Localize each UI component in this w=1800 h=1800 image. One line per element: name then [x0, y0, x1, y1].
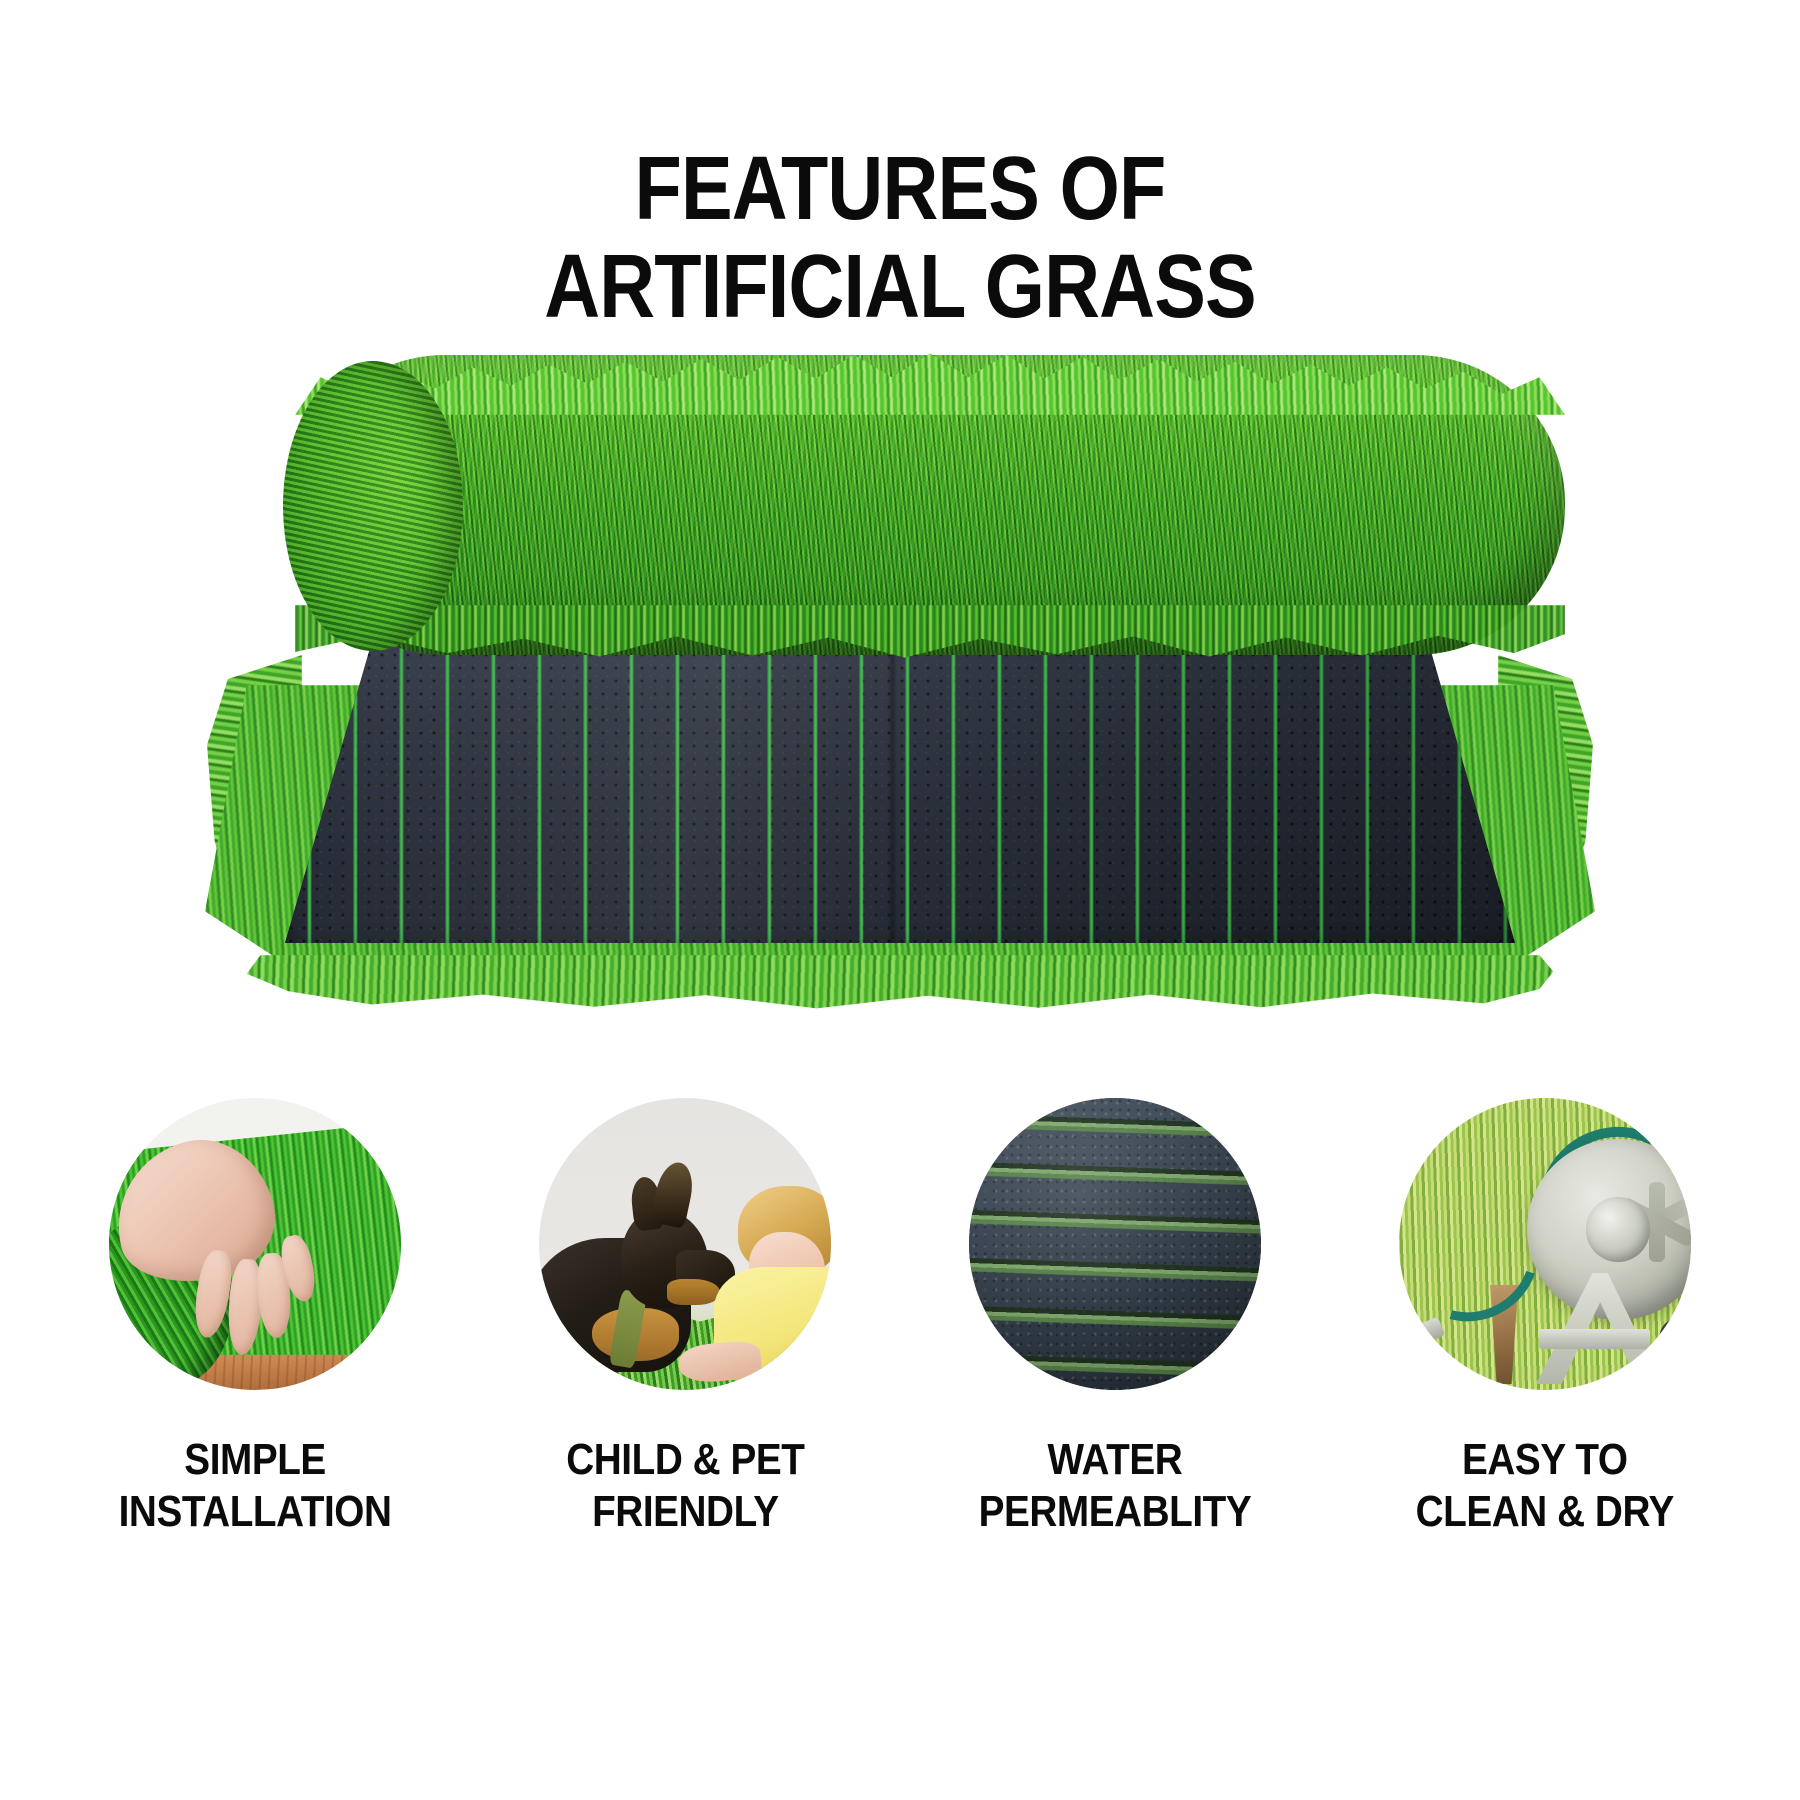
feature-caption-line-2: PERMEABLITY — [979, 1486, 1252, 1538]
feature-caption-line-2: FRIENDLY — [566, 1486, 804, 1538]
feature-item-easy-to-clean-and-dry[interactable]: EASY TO CLEAN & DRY — [1380, 1098, 1710, 1738]
backing-mat-seam — [888, 623, 897, 943]
dog-snout-marking-icon — [667, 1279, 720, 1305]
backing-mat-surface — [285, 623, 1515, 943]
title-line-1: FEATURES OF — [126, 140, 1674, 238]
feature-image-simple-installation — [109, 1098, 401, 1390]
feature-caption-line-1: CHILD & PET — [566, 1434, 804, 1486]
feature-list: SIMPLE INSTALLATION CHILD & PET FRIENDLY — [90, 1098, 1710, 1738]
feature-item-simple-installation[interactable]: SIMPLE INSTALLATION — [90, 1098, 420, 1738]
feature-caption-line-1: SIMPLE — [119, 1434, 392, 1486]
backing-weave-shading — [969, 1098, 1261, 1390]
feature-item-child-pet-friendly[interactable]: CHILD & PET FRIENDLY — [520, 1098, 850, 1738]
backing-mat-sheen — [285, 623, 1515, 943]
hose-reel-hub-icon — [1586, 1197, 1650, 1261]
reel-cart-crossbar-icon — [1539, 1329, 1650, 1349]
feature-caption-line-1: WATER — [979, 1434, 1252, 1486]
feature-caption-child-pet-friendly: CHILD & PET FRIENDLY — [566, 1434, 804, 1538]
feature-caption-line-2: INSTALLATION — [119, 1486, 392, 1538]
feature-image-child-pet-friendly — [539, 1098, 831, 1390]
feature-item-water-permeablity[interactable]: WATER PERMEABLITY — [950, 1098, 1280, 1738]
page-title: FEATURES OF ARTIFICIAL GRASS — [0, 140, 1800, 336]
feature-caption-simple-installation: SIMPLE INSTALLATION — [119, 1434, 392, 1538]
feature-image-easy-to-clean-and-dry — [1399, 1098, 1691, 1390]
feature-caption-easy-to-clean-and-dry: EASY TO CLEAN & DRY — [1416, 1434, 1674, 1538]
feature-caption-line-1: EASY TO — [1416, 1434, 1674, 1486]
feature-caption-water-permeablity: WATER PERMEABLITY — [979, 1434, 1252, 1538]
feature-image-water-permeablity — [969, 1098, 1261, 1390]
feature-caption-line-2: CLEAN & DRY — [1416, 1486, 1674, 1538]
grass-roll-end-cap — [283, 361, 463, 651]
backing-mat — [185, 623, 1615, 990]
hero-product-image — [185, 355, 1615, 990]
title-line-2: ARTIFICIAL GRASS — [126, 238, 1674, 336]
